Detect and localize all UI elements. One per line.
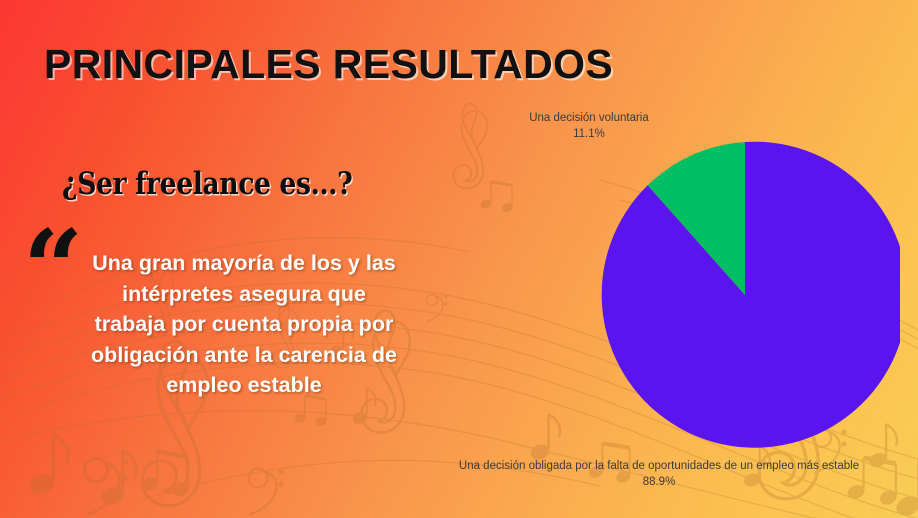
pie-label-obligada-name: Una decisión obligada por la falta de op…	[459, 460, 859, 472]
pie-chart-graphic	[590, 140, 900, 450]
pie-label-voluntaria-name: Una decisión voluntaria	[529, 112, 649, 124]
slide-canvas: PRINCIPALES RESULTADOS ¿Ser freelance es…	[0, 0, 918, 518]
quotation-mark-icon: “	[23, 216, 83, 321]
section-subtitle: ¿Ser freelance es...?	[62, 166, 352, 202]
pie-chart: Una decisión voluntaria 11.1% Una decisi…	[400, 100, 918, 518]
pie-label-voluntaria-value: 11.1%	[400, 126, 778, 142]
quote-text: Una gran mayoría de los y las intérprete…	[88, 248, 400, 401]
pie-slice-obligada[interactable]	[602, 142, 900, 448]
quote-block: “ Una gran mayoría de los y las intérpre…	[16, 248, 416, 401]
page-title: PRINCIPALES RESULTADOS	[44, 41, 613, 88]
pie-label-obligada-value: 88.9%	[406, 474, 912, 490]
pie-label-obligada: Una decisión obligada por la falta de op…	[406, 458, 912, 491]
pie-label-voluntaria: Una decisión voluntaria 11.1%	[400, 110, 778, 143]
